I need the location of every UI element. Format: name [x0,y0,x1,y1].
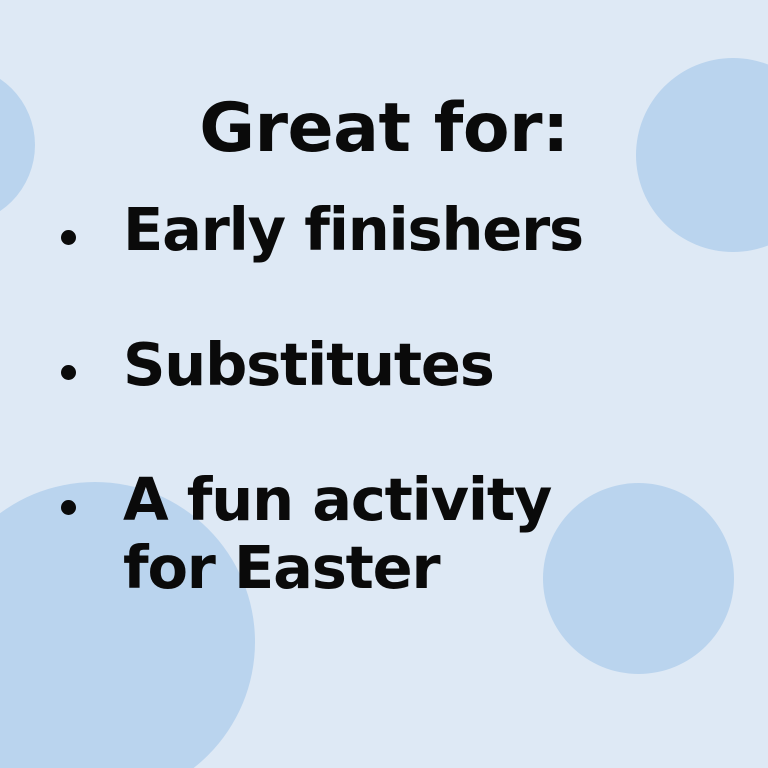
bullet-dot-icon [61,365,76,380]
bullet-dot-icon [61,230,76,245]
list-item-label: Early finishers [123,196,683,264]
list-item: A fun activity for Easter [0,466,768,602]
list-item: Early finishers [0,196,768,264]
list-item-label: A fun activity for Easter [123,466,683,602]
page-title: Great for: [0,95,768,163]
bullet-dot-icon [61,500,76,515]
poster-content: Great for: Early finishers Substitutes A… [0,0,768,768]
list-item: Substitutes [0,331,768,399]
list-item-label: Substitutes [123,331,683,399]
benefits-list: Early finishers Substitutes A fun activi… [0,196,768,602]
poster-canvas: Great for: Early finishers Substitutes A… [0,0,768,768]
